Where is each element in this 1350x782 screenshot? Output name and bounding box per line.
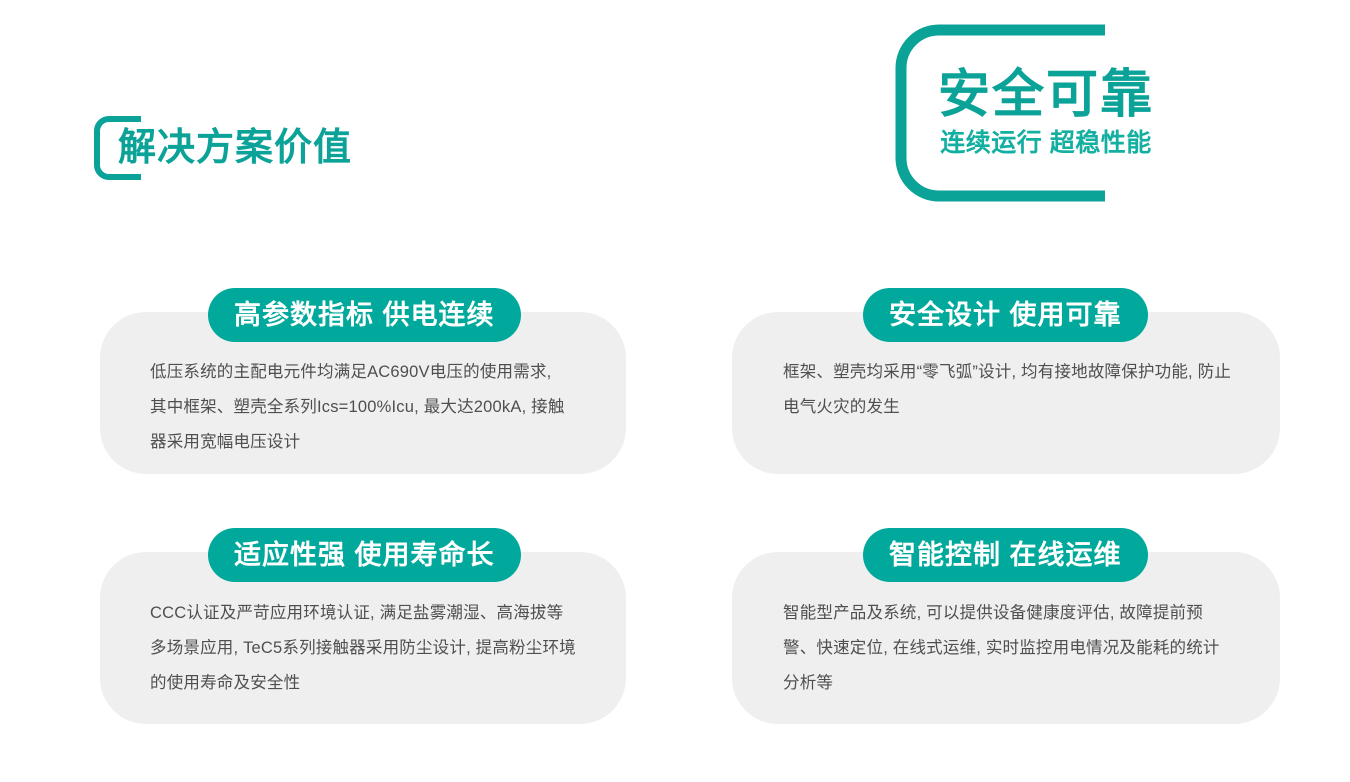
- feature-card-title: 适应性强 使用寿命长: [234, 528, 495, 582]
- feature-card-body: 框架、塑壳均采用“零飞弧”设计, 均有接地故障保护功能, 防止电气火灾的发生: [783, 355, 1235, 425]
- logo-tagline: 连续运行 超稳性能: [940, 126, 1151, 160]
- feature-card-title-pill: 适应性强 使用寿命长: [208, 528, 521, 582]
- feature-card-title-pill: 高参数指标 供电连续: [208, 288, 521, 342]
- feature-card-title: 智能控制 在线运维: [889, 528, 1122, 582]
- feature-card-title: 高参数指标 供电连续: [234, 288, 495, 342]
- logo-text-block: 安全可靠 连续运行 超稳性能: [893, 22, 1181, 204]
- page-title: 解决方案价值: [118, 118, 352, 178]
- feature-card-title-pill: 安全设计 使用可靠: [863, 288, 1148, 342]
- feature-card-body: 低压系统的主配电元件均满足AC690V电压的使用需求, 其中框架、塑壳全系列Ic…: [150, 355, 570, 460]
- logo-headline: 安全可靠: [938, 66, 1154, 124]
- feature-card-title: 安全设计 使用可靠: [889, 288, 1122, 342]
- feature-card-title-pill: 智能控制 在线运维: [863, 528, 1148, 582]
- feature-card-body: 智能型产品及系统, 可以提供设备健康度评估, 故障提前预警、快速定位, 在线式运…: [783, 596, 1233, 701]
- feature-card-body: CCC认证及严苛应用环境认证, 满足盐雾潮湿、高海拔等多场景应用, TeC5系列…: [150, 596, 580, 701]
- logo: 安全可靠 连续运行 超稳性能: [893, 22, 1181, 204]
- slide-root: 解决方案价值 安全可靠 连续运行 超稳性能 高参数指标 供电连续 低压系统的主配…: [0, 0, 1350, 782]
